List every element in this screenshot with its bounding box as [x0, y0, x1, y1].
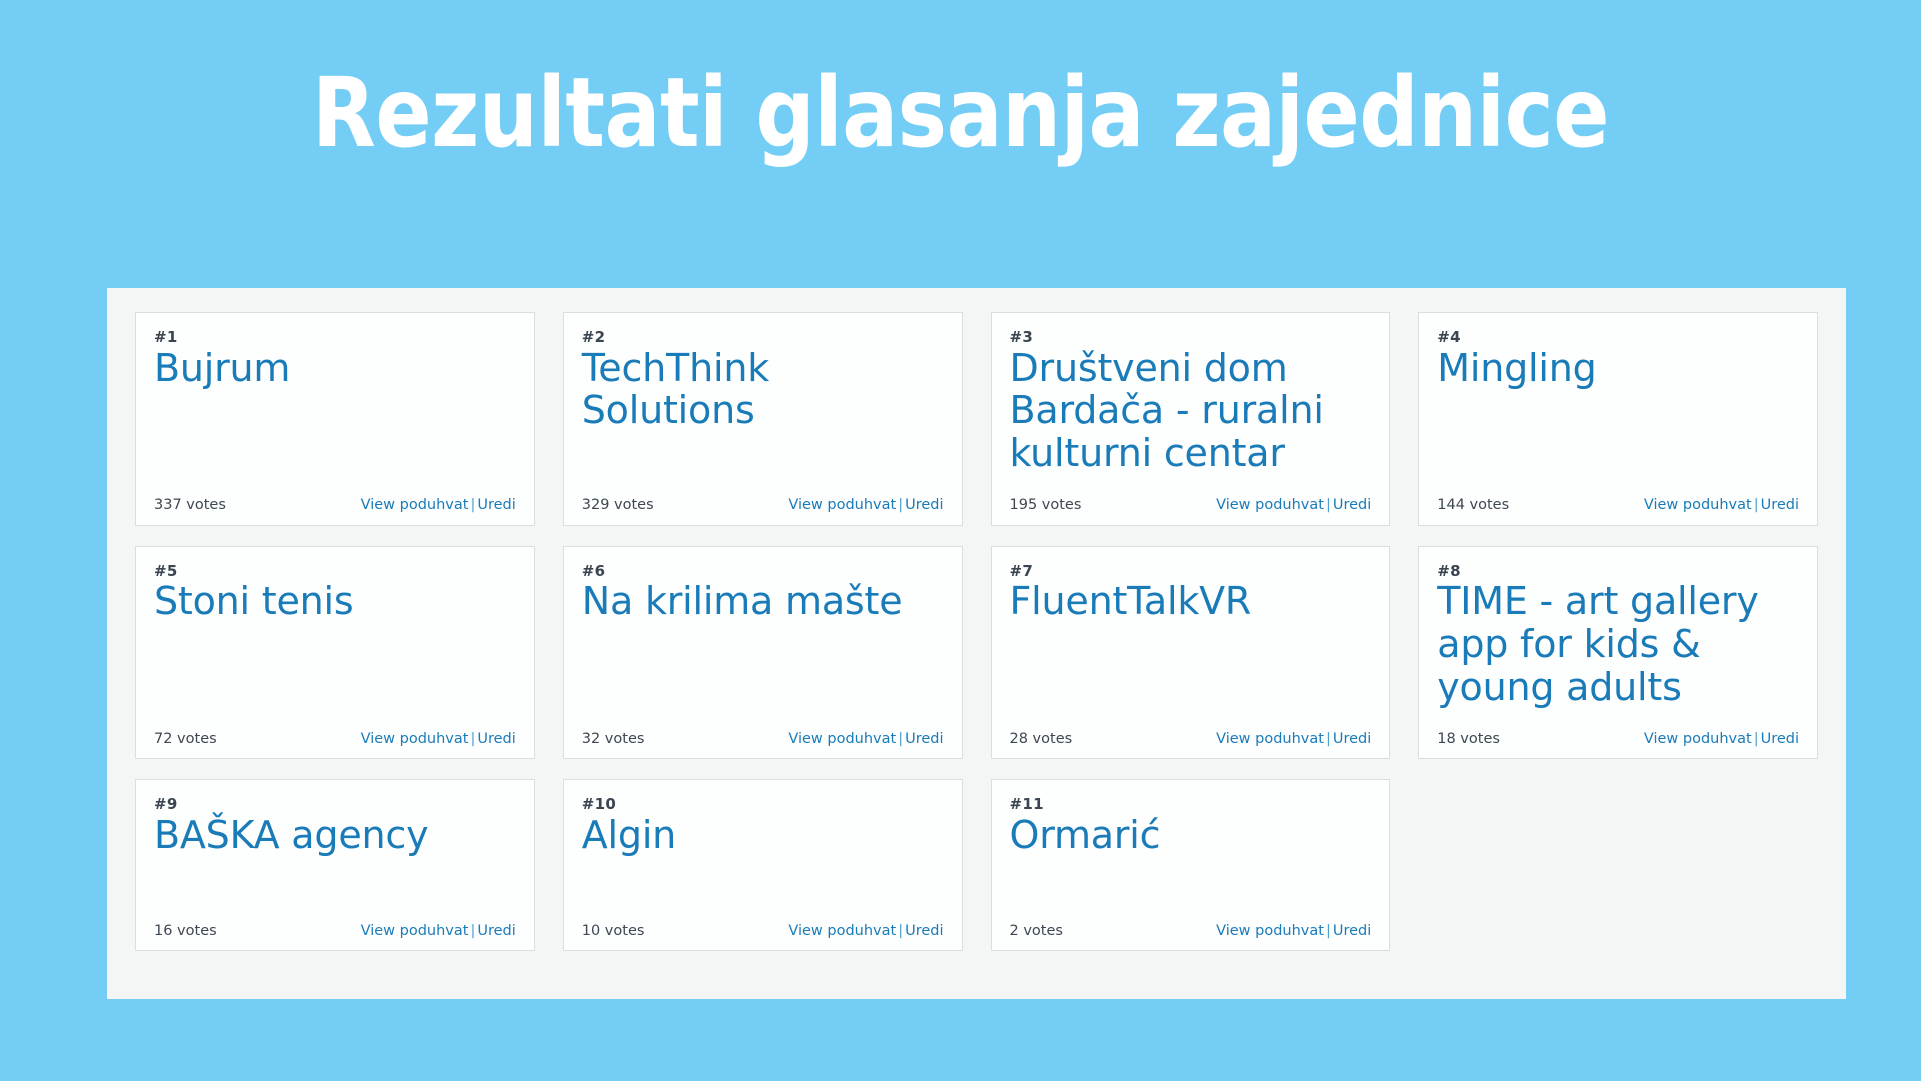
- vote-count: 144 votes: [1437, 497, 1509, 514]
- card-spacer: [1010, 857, 1372, 919]
- card-spacer: [154, 389, 516, 493]
- action-separator: |: [1324, 731, 1333, 747]
- card-actions: View poduhvat|Uredi: [1216, 923, 1371, 940]
- vote-count: 28 votes: [1010, 731, 1073, 748]
- action-separator: |: [896, 497, 905, 513]
- view-poduhvat-link[interactable]: View poduhvat: [788, 731, 896, 747]
- result-card-cell: #10Algin10 votesView poduhvat|Uredi: [549, 769, 977, 961]
- card-spacer: [582, 857, 944, 919]
- view-poduhvat-link[interactable]: View poduhvat: [361, 731, 469, 747]
- action-separator: |: [468, 923, 477, 939]
- card-spacer: [582, 432, 944, 493]
- uredi-link[interactable]: Uredi: [477, 923, 515, 939]
- card-footer: 10 votesView poduhvat|Uredi: [582, 919, 944, 940]
- vote-count: 329 votes: [582, 497, 654, 514]
- rank-label: #9: [154, 796, 516, 813]
- action-separator: |: [896, 731, 905, 747]
- action-separator: |: [1752, 731, 1761, 747]
- result-card-cell: #1Bujrum337 votesView poduhvat|Uredi: [121, 302, 549, 536]
- card-spacer: [582, 623, 944, 727]
- results-page: Rezultati glasanja zajednice #1Bujrum337…: [0, 0, 1921, 1081]
- result-card[interactable]: #10Algin10 votesView poduhvat|Uredi: [563, 779, 963, 951]
- card-actions: View poduhvat|Uredi: [361, 731, 516, 748]
- project-title[interactable]: FluentTalkVR: [1010, 580, 1372, 623]
- result-card[interactable]: #7FluentTalkVR28 votesView poduhvat|Ured…: [991, 546, 1391, 760]
- rank-label: #3: [1010, 329, 1372, 346]
- result-card[interactable]: #6Na krilima mašte32 votesView poduhvat|…: [563, 546, 963, 760]
- card-spacer: [1437, 709, 1799, 727]
- result-card-cell: #2TechThink Solutions329 votesView poduh…: [549, 302, 977, 536]
- action-separator: |: [896, 923, 905, 939]
- results-row: #9BAŠKA agency16 votesView poduhvat|Ured…: [121, 769, 1832, 961]
- rank-label: #8: [1437, 563, 1799, 580]
- action-separator: |: [468, 731, 477, 747]
- view-poduhvat-link[interactable]: View poduhvat: [361, 923, 469, 939]
- vote-count: 2 votes: [1010, 923, 1063, 940]
- card-spacer: [154, 857, 516, 919]
- page-title: Rezultati glasanja zajednice: [38, 0, 1882, 166]
- result-card[interactable]: #2TechThink Solutions329 votesView poduh…: [563, 312, 963, 526]
- uredi-link[interactable]: Uredi: [1333, 731, 1371, 747]
- uredi-link[interactable]: Uredi: [1333, 923, 1371, 939]
- project-title[interactable]: Bujrum: [154, 347, 516, 390]
- result-card-cell: #11Ormarić2 votesView poduhvat|Uredi: [977, 769, 1405, 961]
- result-card[interactable]: #8TIME - art gallery app for kids & youn…: [1418, 546, 1818, 760]
- vote-count: 18 votes: [1437, 731, 1500, 748]
- project-title[interactable]: TechThink Solutions: [582, 347, 944, 433]
- view-poduhvat-link[interactable]: View poduhvat: [361, 497, 469, 513]
- rank-label: #6: [582, 563, 944, 580]
- vote-count: 32 votes: [582, 731, 645, 748]
- result-card[interactable]: #5Stoni tenis72 votesView poduhvat|Uredi: [135, 546, 535, 760]
- card-actions: View poduhvat|Uredi: [361, 497, 516, 514]
- empty-cell: [1404, 769, 1832, 961]
- card-footer: 28 votesView poduhvat|Uredi: [1010, 727, 1372, 748]
- project-title[interactable]: TIME - art gallery app for kids & young …: [1437, 580, 1799, 709]
- card-actions: View poduhvat|Uredi: [788, 923, 943, 940]
- result-card-cell: #5Stoni tenis72 votesView poduhvat|Uredi: [121, 536, 549, 770]
- card-actions: View poduhvat|Uredi: [1644, 731, 1799, 748]
- uredi-link[interactable]: Uredi: [477, 731, 515, 747]
- project-title[interactable]: Na krilima mašte: [582, 580, 944, 623]
- card-actions: View poduhvat|Uredi: [1216, 731, 1371, 748]
- card-actions: View poduhvat|Uredi: [361, 923, 516, 940]
- rank-label: #2: [582, 329, 944, 346]
- result-card[interactable]: #9BAŠKA agency16 votesView poduhvat|Ured…: [135, 779, 535, 951]
- rank-label: #4: [1437, 329, 1799, 346]
- results-panel: #1Bujrum337 votesView poduhvat|Uredi#2Te…: [107, 288, 1846, 999]
- card-actions: View poduhvat|Uredi: [1644, 497, 1799, 514]
- card-footer: 16 votesView poduhvat|Uredi: [154, 919, 516, 940]
- project-title[interactable]: Ormarić: [1010, 814, 1372, 857]
- card-actions: View poduhvat|Uredi: [788, 731, 943, 748]
- view-poduhvat-link[interactable]: View poduhvat: [788, 497, 896, 513]
- project-title[interactable]: Društveni dom Bardača - ruralni kulturni…: [1010, 347, 1372, 476]
- results-row: #1Bujrum337 votesView poduhvat|Uredi#2Te…: [121, 302, 1832, 536]
- project-title[interactable]: BAŠKA agency: [154, 814, 516, 857]
- project-title[interactable]: Mingling: [1437, 347, 1799, 390]
- rank-label: #10: [582, 796, 944, 813]
- vote-count: 16 votes: [154, 923, 217, 940]
- action-separator: |: [1752, 497, 1761, 513]
- card-footer: 337 votesView poduhvat|Uredi: [154, 493, 516, 514]
- view-poduhvat-link[interactable]: View poduhvat: [1216, 731, 1324, 747]
- result-card[interactable]: #4Mingling144 votesView poduhvat|Uredi: [1418, 312, 1818, 526]
- uredi-link[interactable]: Uredi: [1761, 731, 1799, 747]
- card-actions: View poduhvat|Uredi: [788, 497, 943, 514]
- vote-count: 195 votes: [1010, 497, 1082, 514]
- uredi-link[interactable]: Uredi: [1333, 497, 1371, 513]
- uredi-link[interactable]: Uredi: [905, 923, 943, 939]
- view-poduhvat-link[interactable]: View poduhvat: [1644, 731, 1752, 747]
- result-card-cell: #9BAŠKA agency16 votesView poduhvat|Ured…: [121, 769, 549, 961]
- action-separator: |: [1324, 923, 1333, 939]
- view-poduhvat-link[interactable]: View poduhvat: [788, 923, 896, 939]
- card-footer: 2 votesView poduhvat|Uredi: [1010, 919, 1372, 940]
- uredi-link[interactable]: Uredi: [905, 731, 943, 747]
- result-card[interactable]: #3Društveni dom Bardača - ruralni kultur…: [991, 312, 1391, 526]
- action-separator: |: [468, 497, 477, 513]
- view-poduhvat-link[interactable]: View poduhvat: [1644, 497, 1752, 513]
- results-grid: #1Bujrum337 votesView poduhvat|Uredi#2Te…: [121, 302, 1832, 961]
- result-card-cell: #3Društveni dom Bardača - ruralni kultur…: [977, 302, 1405, 536]
- card-spacer: [1010, 475, 1372, 493]
- card-footer: 144 votesView poduhvat|Uredi: [1437, 493, 1799, 514]
- card-actions: View poduhvat|Uredi: [1216, 497, 1371, 514]
- action-separator: |: [1324, 497, 1333, 513]
- uredi-link[interactable]: Uredi: [905, 497, 943, 513]
- rank-label: #7: [1010, 563, 1372, 580]
- project-title[interactable]: Stoni tenis: [154, 580, 516, 623]
- vote-count: 10 votes: [582, 923, 645, 940]
- project-title[interactable]: Algin: [582, 814, 944, 857]
- card-spacer: [1010, 623, 1372, 727]
- uredi-link[interactable]: Uredi: [477, 497, 515, 513]
- result-card-cell: #8TIME - art gallery app for kids & youn…: [1404, 536, 1832, 770]
- vote-count: 337 votes: [154, 497, 226, 514]
- view-poduhvat-link[interactable]: View poduhvat: [1216, 923, 1324, 939]
- card-footer: 18 votesView poduhvat|Uredi: [1437, 727, 1799, 748]
- result-card-cell: #4Mingling144 votesView poduhvat|Uredi: [1404, 302, 1832, 536]
- result-card-cell: #7FluentTalkVR28 votesView poduhvat|Ured…: [977, 536, 1405, 770]
- card-spacer: [154, 623, 516, 727]
- card-footer: 32 votesView poduhvat|Uredi: [582, 727, 944, 748]
- card-spacer: [1437, 389, 1799, 493]
- uredi-link[interactable]: Uredi: [1761, 497, 1799, 513]
- card-footer: 195 votesView poduhvat|Uredi: [1010, 493, 1372, 514]
- card-footer: 329 votesView poduhvat|Uredi: [582, 493, 944, 514]
- result-card[interactable]: #11Ormarić2 votesView poduhvat|Uredi: [991, 779, 1391, 951]
- rank-label: #1: [154, 329, 516, 346]
- result-card[interactable]: #1Bujrum337 votesView poduhvat|Uredi: [135, 312, 535, 526]
- rank-label: #11: [1010, 796, 1372, 813]
- view-poduhvat-link[interactable]: View poduhvat: [1216, 497, 1324, 513]
- card-footer: 72 votesView poduhvat|Uredi: [154, 727, 516, 748]
- rank-label: #5: [154, 563, 516, 580]
- result-card-cell: #6Na krilima mašte32 votesView poduhvat|…: [549, 536, 977, 770]
- vote-count: 72 votes: [154, 731, 217, 748]
- results-row: #5Stoni tenis72 votesView poduhvat|Uredi…: [121, 536, 1832, 770]
